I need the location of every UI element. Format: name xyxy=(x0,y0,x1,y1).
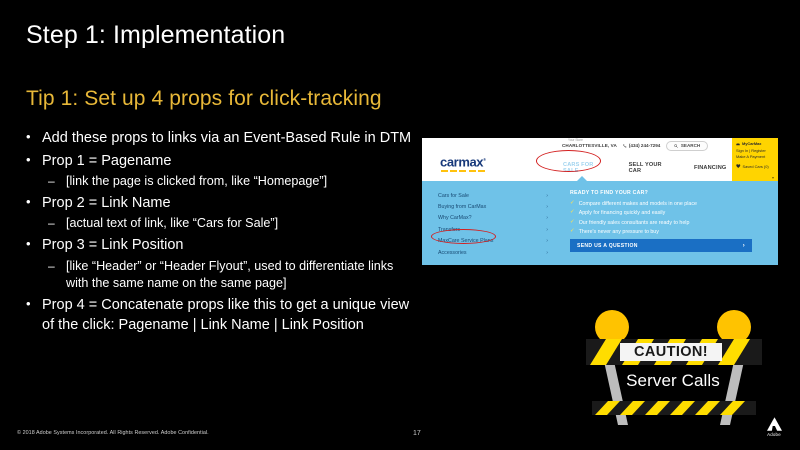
chevron-right-icon: › xyxy=(546,250,548,256)
barricade-bottom-board xyxy=(592,401,756,415)
benefit-item: ✓ Apply for financing quickly and easily xyxy=(570,210,766,216)
bullet-list: Add these props to links via an Event-Ba… xyxy=(20,128,416,338)
chevron-down-icon[interactable]: ▾ xyxy=(772,175,774,180)
menu-item-transfers[interactable]: Transfers › xyxy=(436,224,556,235)
caution-label: CAUTION! xyxy=(624,345,718,360)
flyout-pointer xyxy=(577,176,587,181)
copyright-notice: © 2018 Adobe Systems Incorporated. All R… xyxy=(17,430,209,436)
menu-item-label: Transfers xyxy=(438,227,460,233)
chevron-right-icon: › xyxy=(546,238,548,244)
menu-item-accessories[interactable]: Accessories › xyxy=(436,247,556,258)
sub-bullet-item: [link the page is clicked from, like “Ho… xyxy=(20,173,416,191)
menu-item-label: Why CarMax? xyxy=(438,215,472,221)
carmax-logo-text: carmax xyxy=(440,154,483,169)
chevron-right-icon: › xyxy=(546,215,548,221)
menu-item-label: MaxCare Service Plans xyxy=(438,238,493,244)
adobe-wordmark: Adobe xyxy=(767,432,781,437)
carmax-logo-trademark: ® xyxy=(483,157,486,162)
saved-cars-label: Saved Cars (0) xyxy=(743,164,769,169)
checkmark-icon: ✓ xyxy=(570,229,575,235)
page-title: Step 1: Implementation xyxy=(26,21,285,50)
nav-item-cars-for-sale[interactable]: CARS FOR SALE xyxy=(563,162,610,174)
search-icon xyxy=(674,144,678,148)
chevron-right-icon: › xyxy=(546,193,548,199)
checkmark-icon: ✓ xyxy=(570,220,575,226)
bullet-item: Add these props to links via an Event-Ba… xyxy=(20,128,416,149)
warning-lamp-right xyxy=(717,310,751,344)
menu-item-cars-for-sale[interactable]: Cars for Sale › xyxy=(436,190,556,201)
nav-item-sell-your-car[interactable]: SELL YOUR CAR xyxy=(629,162,675,174)
server-calls-caption: Server Calls xyxy=(562,371,784,391)
warning-lamp-left xyxy=(595,310,629,344)
carmax-account-panel[interactable]: MyCarMax Sign In | Register Make A Payme… xyxy=(732,138,778,181)
chevron-right-icon: › xyxy=(743,243,745,249)
account-title: MyCarMax xyxy=(742,141,761,146)
phone-icon xyxy=(623,144,627,148)
menu-item-buying-from-carmax[interactable]: Buying from CarMax › xyxy=(436,201,556,212)
account-make-payment[interactable]: Make A Payment xyxy=(736,154,775,159)
carmax-website-screenshot: carmax® Your Store CHARLOTTESVILLE, VA (… xyxy=(422,138,778,265)
chevron-right-icon: › xyxy=(546,204,548,210)
benefit-item: ✓ There's never any pressure to buy xyxy=(570,229,766,235)
benefit-item: ✓ Our friendly sales consultants are rea… xyxy=(570,220,766,226)
page-number: 17 xyxy=(413,430,421,437)
sub-bullet-item: [actual text of link, like “Cars for Sal… xyxy=(20,215,416,233)
benefit-label: Our friendly sales consultants are ready… xyxy=(579,220,690,226)
benefit-label: There's never any pressure to buy xyxy=(579,229,659,235)
carmax-utility-bar: Your Store CHARLOTTESVILLE, VA (434) 244… xyxy=(562,141,708,151)
caution-barricade-graphic: CAUTION! Server Calls xyxy=(562,305,784,431)
store-label: Your Store xyxy=(568,138,583,142)
sub-bullet-item: [like “Header” or “Header Flyout”, used … xyxy=(20,258,416,293)
account-signin[interactable]: Sign In | Register xyxy=(736,148,775,153)
store-location[interactable]: CHARLOTTESVILLE, VA xyxy=(562,143,617,148)
adobe-logo: Adobe xyxy=(759,412,789,442)
chevron-right-icon: › xyxy=(546,227,548,233)
menu-item-label: Accessories xyxy=(438,250,467,256)
store-phone[interactable]: (434) 244-7294 xyxy=(623,143,660,148)
menu-item-label: Cars for Sale xyxy=(438,193,469,199)
menu-item-maxcare-service-plans[interactable]: MaxCare Service Plans › xyxy=(436,236,556,247)
account-saved-cars[interactable]: Saved Cars (0) xyxy=(736,164,775,169)
bullet-item: Prop 1 = Pagename xyxy=(20,151,416,172)
car-icon xyxy=(736,142,740,146)
bullet-item: Prop 4 = Concatenate props like this to … xyxy=(20,295,416,336)
flyout-menu-list: Cars for Sale › Buying from CarMax › Why… xyxy=(436,190,556,258)
bullet-item: Prop 2 = Link Name xyxy=(20,193,416,214)
carmax-flyout-panel: Cars for Sale › Buying from CarMax › Why… xyxy=(422,181,778,265)
carmax-header: carmax® Your Store CHARLOTTESVILLE, VA (… xyxy=(422,138,778,181)
adobe-a-icon xyxy=(767,417,782,431)
search-button[interactable]: SEARCH xyxy=(666,141,708,151)
bullet-item: Prop 3 = Link Position xyxy=(20,235,416,256)
menu-item-why-carmax[interactable]: Why CarMax? › xyxy=(436,213,556,224)
checkmark-icon: ✓ xyxy=(570,201,575,207)
promo-heading: READY TO FIND YOUR CAR? xyxy=(570,190,766,196)
store-phone-number: (434) 244-7294 xyxy=(629,143,660,148)
benefit-label: Compare different makes and models in on… xyxy=(579,201,697,207)
slide-subtitle: Tip 1: Set up 4 props for click-tracking xyxy=(26,87,382,111)
send-us-a-question-button[interactable]: SEND US A QUESTION › xyxy=(570,239,752,252)
carmax-logo-dashes xyxy=(441,170,502,172)
flyout-promo-panel: READY TO FIND YOUR CAR? ✓ Compare differ… xyxy=(570,190,766,252)
checkmark-icon: ✓ xyxy=(570,210,575,216)
search-label: SEARCH xyxy=(681,143,700,148)
heart-icon xyxy=(736,164,741,169)
carmax-logo[interactable]: carmax® xyxy=(440,153,502,172)
menu-item-label: Buying from CarMax xyxy=(438,204,486,210)
cta-label: SEND US A QUESTION xyxy=(577,243,638,249)
benefit-label: Apply for financing quickly and easily xyxy=(579,210,666,216)
account-title-row[interactable]: MyCarMax xyxy=(736,141,775,146)
nav-item-financing[interactable]: FINANCING xyxy=(694,165,726,171)
barricade-svg xyxy=(562,305,784,431)
benefit-item: ✓ Compare different makes and models in … xyxy=(570,201,766,207)
